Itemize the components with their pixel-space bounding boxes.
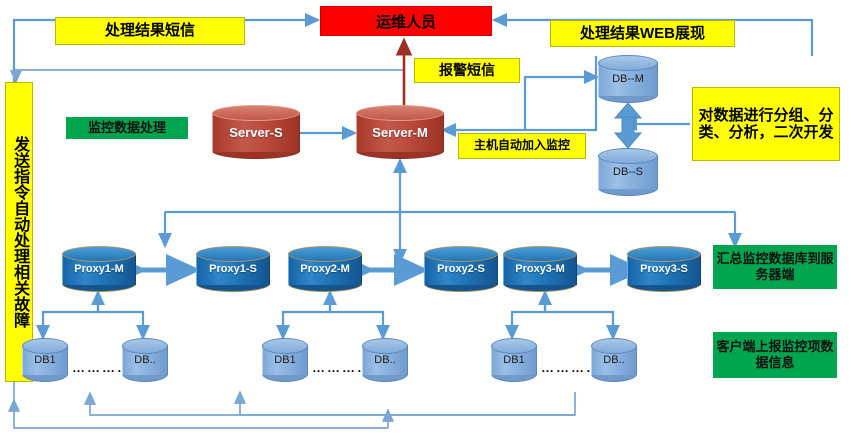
node-proxy1-s-label: Proxy1-S [196, 246, 270, 292]
node-server-s-label: Server-S [212, 105, 300, 159]
note-monitor-data-process: 监控数据处理 [66, 117, 188, 139]
node-db-group2-first[interactable]: DB1 [262, 338, 308, 382]
node-db-group2-last[interactable]: DB.. [362, 338, 408, 382]
node-db-group1-last[interactable]: DB.. [122, 338, 168, 382]
note-web-result: 处理结果WEB展现 [550, 20, 735, 47]
db-sync-double-arrow [615, 103, 641, 148]
node-server-m-label: Server-M [356, 105, 444, 159]
node-proxy2-s[interactable]: Proxy2-S [424, 246, 498, 292]
note-data-analysis: 对数据进行分组、分类、分析，二次开发 [692, 87, 840, 161]
node-server-m[interactable]: Server-M [356, 105, 444, 159]
architecture-diagram-canvas: 运维人员 处理结果短信 处理结果WEB展现 报警短信 发送指令自动处理相关故障 … [0, 0, 851, 448]
node-db-group1-first[interactable]: DB1 [22, 338, 68, 382]
note-alarm-sms: 报警短信 [414, 58, 520, 83]
node-db-label: DB.. [122, 338, 168, 382]
node-db-m[interactable]: DB--M [598, 55, 658, 103]
node-db-label: DB1 [262, 338, 308, 382]
node-proxy1-m[interactable]: Proxy1-M [62, 246, 136, 292]
note-send-command-text: 发送指令自动处理相关故障 [11, 136, 27, 328]
note-aggregate-db: 汇总监控数据库到服务器端 [713, 245, 837, 289]
note-client-report: 客户端上报监控项数据信息 [713, 332, 837, 378]
node-db-group3-last[interactable]: DB.. [591, 338, 637, 382]
node-db-m-label: DB--M [598, 55, 658, 103]
node-db-label: DB.. [591, 338, 637, 382]
node-proxy1-m-label: Proxy1-M [62, 246, 136, 292]
node-db-s-label: DB--S [598, 148, 658, 196]
node-db-label: DB.. [362, 338, 408, 382]
note-auto-join-monitor: 主机自动加入监控 [458, 133, 586, 159]
node-db-s[interactable]: DB--S [598, 148, 658, 196]
node-db-label: DB1 [22, 338, 68, 382]
note-send-command-vertical: 发送指令自动处理相关故障 [5, 82, 33, 382]
node-proxy2-m-label: Proxy2-M [288, 246, 362, 292]
node-proxy3-m-label: Proxy3-M [503, 246, 577, 292]
node-proxy2-s-label: Proxy2-S [424, 246, 498, 292]
node-proxy3-s-label: Proxy3-S [627, 246, 701, 292]
node-db-label: DB1 [491, 338, 537, 382]
node-proxy2-m[interactable]: Proxy2-M [288, 246, 362, 292]
node-db-group3-first[interactable]: DB1 [491, 338, 537, 382]
note-sms-result: 处理结果短信 [55, 17, 245, 45]
node-proxy3-s[interactable]: Proxy3-S [627, 246, 701, 292]
node-server-s[interactable]: Server-S [212, 105, 300, 159]
node-proxy3-m[interactable]: Proxy3-M [503, 246, 577, 292]
node-proxy1-s[interactable]: Proxy1-S [196, 246, 270, 292]
operator-box[interactable]: 运维人员 [320, 6, 492, 36]
